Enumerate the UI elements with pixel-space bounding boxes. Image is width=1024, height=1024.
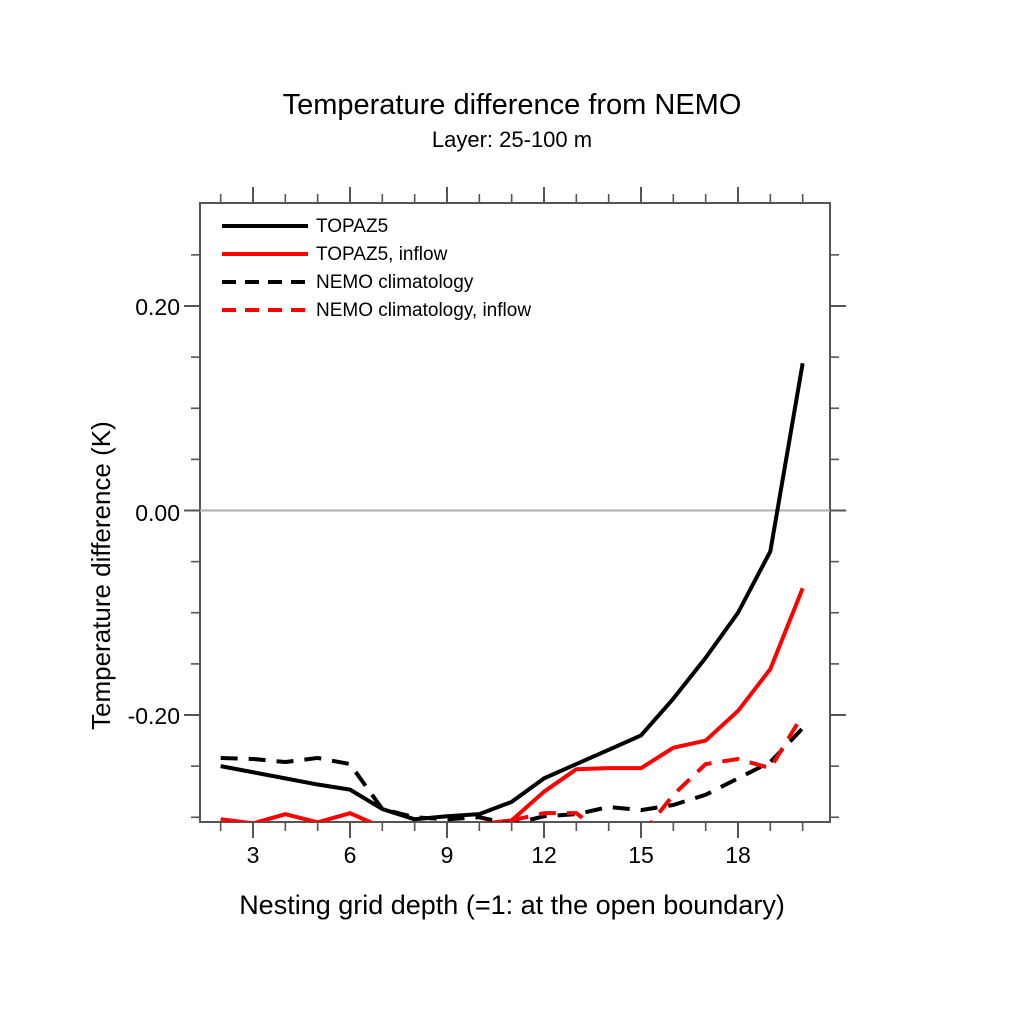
plot-canvas: [0, 0, 1024, 1024]
series-line-0: [221, 363, 803, 819]
series-line-2: [221, 728, 803, 824]
legend-sample-lines: [222, 226, 308, 310]
series-line-3: [512, 715, 803, 838]
plot-frame: [200, 203, 830, 822]
axis-ticks: [184, 187, 846, 838]
axis-frame: [200, 203, 830, 822]
chart-figure: Temperature difference from NEMO Layer: …: [0, 0, 1024, 1024]
series-line-1: [221, 588, 803, 831]
data-series-group: [221, 363, 803, 837]
